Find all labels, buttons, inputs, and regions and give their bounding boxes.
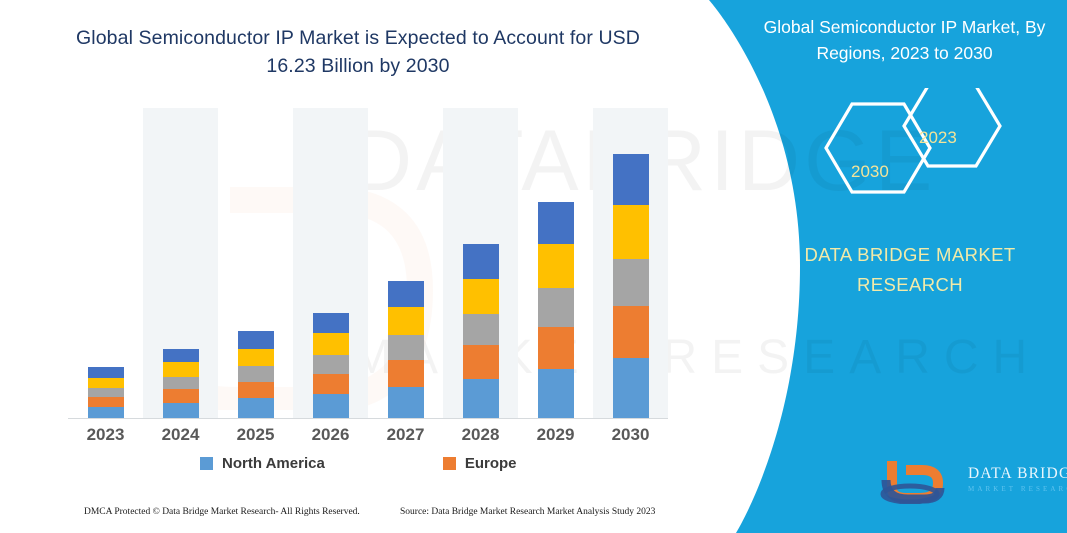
chart-bar-segment [613, 358, 649, 418]
chart-bar-segment [388, 387, 424, 418]
chart-bar[interactable] [388, 281, 424, 418]
chart-column [68, 108, 143, 418]
x-axis-label-2028: 2028 [443, 425, 518, 445]
hexagon-badges [812, 88, 1042, 208]
panel-title: Global Semiconductor IP Market, By Regio… [752, 14, 1057, 67]
chart-bar[interactable] [538, 202, 574, 418]
chart-bar-segment [538, 369, 574, 418]
chart-bar-segment [163, 389, 199, 402]
chart-legend: North AmericaEurope [68, 455, 668, 472]
chart-bar-segment [463, 244, 499, 278]
chart-bar-segment [163, 377, 199, 389]
chart-bar-segment [313, 333, 349, 355]
chart-bar-segment [463, 345, 499, 379]
x-axis-label-2027: 2027 [368, 425, 443, 445]
chart-bar-segment [463, 314, 499, 345]
chart-column [443, 108, 518, 418]
x-axis-line [68, 418, 668, 419]
data-bridge-logo-icon [880, 458, 962, 509]
x-axis-label-2030: 2030 [593, 425, 668, 445]
chart-column [518, 108, 593, 418]
logo-tagline: MARKET RESEARCH [968, 485, 1067, 493]
chart-bar-segment [388, 281, 424, 308]
x-axis-labels: 20232024202520262027202820292030 [68, 425, 668, 445]
chart-bar-segment [88, 378, 124, 388]
page-title: Global Semiconductor IP Market is Expect… [68, 24, 648, 81]
chart-bar-segment [313, 355, 349, 374]
chart-bar-segment [88, 407, 124, 418]
chart-bar-segment [613, 154, 649, 206]
chart-bar-segment [313, 394, 349, 418]
legend-item-north-america[interactable]: North America [200, 455, 325, 472]
chart-bar-segment [613, 306, 649, 358]
data-bridge-logo-text: DATA BRIDGE MARKET RESEARCH [968, 465, 1067, 493]
x-axis-label-2023: 2023 [68, 425, 143, 445]
chart-bar[interactable] [88, 367, 124, 418]
chart-bar-segment [613, 205, 649, 259]
chart-bar-segment [538, 202, 574, 244]
chart-bar-segment [388, 335, 424, 360]
brand-line-2: RESEARCH [760, 270, 1060, 300]
infographic-canvas: DATABRIDGE MARKET RESEARCH Global Semico… [0, 0, 1067, 533]
chart-bar-segment [88, 388, 124, 397]
chart-bar[interactable] [163, 349, 199, 418]
chart-bar-segment [463, 279, 499, 314]
chart-bar-segment [613, 259, 649, 307]
chart-bar-segment [538, 244, 574, 287]
chart-column [218, 108, 293, 418]
legend-swatch-icon [200, 457, 213, 470]
chart-column [593, 108, 668, 418]
chart-bar-segment [163, 362, 199, 376]
chart-bar-segment [88, 367, 124, 377]
chart-bar-segment [163, 403, 199, 419]
chart-bar[interactable] [463, 244, 499, 418]
footer: DMCA Protected © Data Bridge Market Rese… [0, 507, 700, 533]
chart-bar-segment [238, 366, 274, 382]
hexagon-2023-label: 2023 [919, 128, 957, 148]
chart-bar-segment [313, 374, 349, 395]
x-axis-label-2025: 2025 [218, 425, 293, 445]
chart-column [293, 108, 368, 418]
chart-column [143, 108, 218, 418]
legend-swatch-icon [443, 457, 456, 470]
chart-bar[interactable] [313, 313, 349, 418]
chart-bar-segment [163, 349, 199, 362]
chart-bar-segment [388, 307, 424, 335]
brand-line-1: DATA BRIDGE MARKET [760, 240, 1060, 270]
legend-item-europe[interactable]: Europe [443, 455, 517, 472]
chart-bar-segment [238, 398, 274, 418]
hexagon-2030-label: 2030 [851, 162, 889, 182]
chart-bar[interactable] [613, 154, 649, 418]
brand-title: DATA BRIDGE MARKET RESEARCH [760, 240, 1060, 299]
chart-bar-segment [313, 313, 349, 334]
stacked-bar-chart [68, 108, 668, 418]
footer-copyright: DMCA Protected © Data Bridge Market Rese… [84, 507, 360, 517]
chart-column [368, 108, 443, 418]
chart-bar-segment [238, 382, 274, 399]
x-axis-label-2029: 2029 [518, 425, 593, 445]
logo-name: DATA BRIDGE [968, 465, 1067, 483]
chart-bar-segment [538, 327, 574, 369]
footer-source: Source: Data Bridge Market Research Mark… [400, 507, 655, 517]
chart-bar-segment [238, 349, 274, 367]
chart-bar-segment [88, 397, 124, 406]
chart-bar-segment [463, 379, 499, 418]
chart-plot-area [68, 108, 668, 418]
legend-label: Europe [465, 455, 517, 472]
chart-bar-segment [238, 331, 274, 349]
chart-bar[interactable] [238, 331, 274, 418]
x-axis-label-2024: 2024 [143, 425, 218, 445]
chart-bar-segment [388, 360, 424, 387]
x-axis-label-2026: 2026 [293, 425, 368, 445]
chart-bar-segment [538, 288, 574, 327]
legend-label: North America [222, 455, 325, 472]
